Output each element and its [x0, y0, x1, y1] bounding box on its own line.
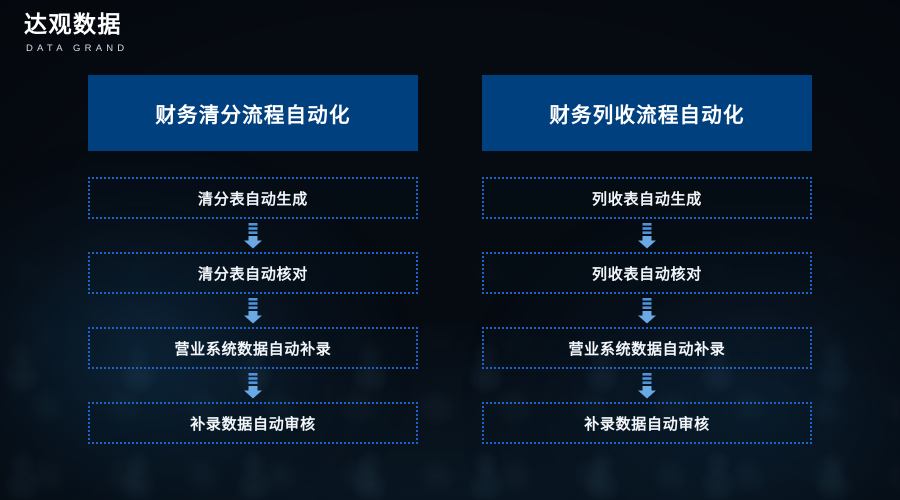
- step-box[interactable]: 补录数据自动审核: [88, 402, 418, 444]
- arrow-down-icon: [637, 298, 657, 324]
- flow-columns: 财务清分流程自动化 清分表自动生成 清分表自动核对: [88, 75, 812, 445]
- column-header-left: 财务清分流程自动化: [88, 75, 418, 151]
- step-box[interactable]: 列收表自动核对: [482, 252, 812, 294]
- flow-arrow: [88, 219, 418, 252]
- flow-arrow: [88, 294, 418, 327]
- step-box[interactable]: 补录数据自动审核: [482, 402, 812, 444]
- arrow-down-icon: [637, 223, 657, 249]
- flow-column-left: 财务清分流程自动化 清分表自动生成 清分表自动核对: [88, 75, 418, 445]
- step-box[interactable]: 营业系统数据自动补录: [88, 327, 418, 369]
- brand-logo-en: DATA GRAND: [24, 44, 128, 54]
- flow-column-right: 财务列收流程自动化 列收表自动生成 列收表自动核对: [482, 75, 812, 445]
- arrow-down-icon: [637, 373, 657, 399]
- slide-canvas: 达观数据 DATA GRAND 财务清分流程自动化 清分表自动生成 清分表自动核…: [0, 0, 900, 500]
- step-box[interactable]: 列收表自动生成: [482, 177, 812, 219]
- step-box[interactable]: 营业系统数据自动补录: [482, 327, 812, 369]
- column-header-right: 财务列收流程自动化: [482, 75, 812, 151]
- arrow-down-icon: [243, 298, 263, 324]
- step-box[interactable]: 清分表自动生成: [88, 177, 418, 219]
- brand-logo: 达观数据 DATA GRAND: [24, 14, 128, 54]
- flow-arrow: [88, 369, 418, 402]
- brand-logo-cn: 达观数据: [24, 14, 128, 37]
- step-box[interactable]: 清分表自动核对: [88, 252, 418, 294]
- flow-arrow: [482, 219, 812, 252]
- arrow-down-icon: [243, 373, 263, 399]
- flow-arrow: [482, 294, 812, 327]
- step-list-left: 清分表自动生成 清分表自动核对: [88, 177, 418, 444]
- flow-arrow: [482, 369, 812, 402]
- arrow-down-icon: [243, 223, 263, 249]
- step-list-right: 列收表自动生成 列收表自动核对: [482, 177, 812, 444]
